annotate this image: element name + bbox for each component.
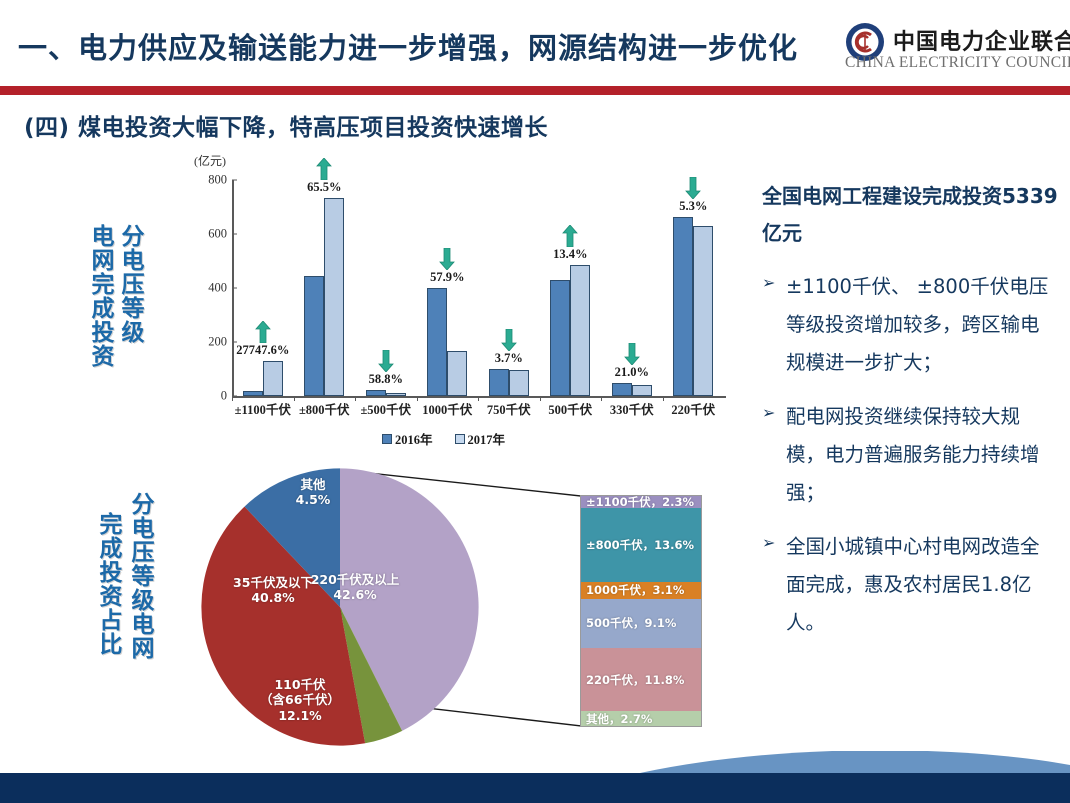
y-axis-unit-label: (亿元) xyxy=(194,152,226,169)
side-label-bottom-right: 分电压等级电网 xyxy=(128,492,151,660)
stack-segment-label: 220千伏，11.8% xyxy=(581,672,684,688)
logo-text-cn: 中国电力企业联合会 xyxy=(893,24,1070,56)
bar-2016 xyxy=(366,390,386,396)
summary-bullet-text: ±1100千伏、 ±800千伏电压等级投资增加较多，跨区输电规模进一步扩大； xyxy=(786,268,1058,382)
pie-label-percent: 42.6% xyxy=(311,587,400,602)
bar-2017 xyxy=(570,265,590,396)
pie-label-line: 其他 xyxy=(296,477,331,492)
legend-item: 2017年 xyxy=(455,429,506,448)
growth-percent-label: 13.4% xyxy=(553,247,587,262)
growth-percent-label: 58.8% xyxy=(369,372,403,387)
bar-group xyxy=(232,180,294,396)
growth-percent-label: 21.0% xyxy=(615,365,649,380)
x-axis-tick-label: 500千伏 xyxy=(548,399,592,418)
summary-bullet: ➢配电网投资继续保持较大规模，电力普遍服务能力持续增强； xyxy=(762,398,1058,512)
arrow-down-icon xyxy=(378,350,394,372)
arrow-down-icon xyxy=(501,329,517,351)
summary-bullet-list: ➢±1100千伏、 ±800千伏电压等级投资增加较多，跨区输电规模进一步扩大；➢… xyxy=(762,268,1058,642)
bullet-arrow-icon: ➢ xyxy=(762,268,786,382)
growth-percent-label: 5.3% xyxy=(679,199,707,214)
pie-slice-label: 220千伏及以上42.6% xyxy=(311,572,400,603)
bar-2016 xyxy=(243,391,263,396)
summary-bullet: ➢±1100千伏、 ±800千伏电压等级投资增加较多，跨区输电规模进一步扩大； xyxy=(762,268,1058,382)
x-axis-tick-label: ±800千伏 xyxy=(299,399,350,418)
growth-percent-label: 3.7% xyxy=(495,351,523,366)
growth-percent-label: 57.9% xyxy=(430,270,464,285)
arrow-down-icon xyxy=(439,248,455,270)
page-title: 一、电力供应及输送能力进一步增强，网源结构进一步优化 xyxy=(18,25,818,67)
logo-text-en: CHINA ELECTRICITY COUNCIL xyxy=(845,54,1070,72)
bar-2016 xyxy=(489,369,509,396)
legend-label: 2017年 xyxy=(468,429,506,448)
arrow-up-icon xyxy=(255,321,271,343)
bar-2016 xyxy=(304,276,324,396)
y-axis-tick-mark xyxy=(232,180,237,181)
x-axis-tick-label: 1000千伏 xyxy=(422,399,472,418)
pie-label-line: 220千伏及以上 xyxy=(311,572,400,587)
x-axis-tick-mark xyxy=(601,396,602,401)
side-label-top-right: 分电压等级 xyxy=(118,224,141,344)
stack-segment-label: 500千伏，9.1% xyxy=(581,615,676,631)
organization-logo: 中国电力企业联合会 CHINA ELECTRICITY COUNCIL xyxy=(845,18,1060,78)
bar-2016 xyxy=(550,280,570,396)
arrow-down-icon xyxy=(624,343,640,365)
side-label-top-left: 电网完成投资 xyxy=(88,224,111,368)
y-axis-tick-label: 800 xyxy=(208,173,227,188)
bar-2017 xyxy=(632,385,652,396)
summary-bullet-text: 配电网投资继续保持较大规模，电力普遍服务能力持续增强； xyxy=(786,398,1058,512)
bullet-arrow-icon: ➢ xyxy=(762,528,786,642)
arrow-down-icon xyxy=(685,177,701,199)
x-axis-tick-mark xyxy=(355,396,356,401)
pie-label-line: 35千伏及以下 xyxy=(233,575,313,590)
x-axis-tick-mark xyxy=(478,396,479,401)
bar-group xyxy=(294,180,356,396)
x-axis-tick-mark xyxy=(663,396,664,401)
bar-2017 xyxy=(693,226,713,396)
bullet-arrow-icon: ➢ xyxy=(762,398,786,512)
pie-slice-label: 35千伏及以下40.8% xyxy=(233,575,313,606)
stack-segment: 220千伏，11.8% xyxy=(581,648,701,712)
header-red-rule xyxy=(0,86,1070,95)
x-axis-tick-label: 750千伏 xyxy=(487,399,531,418)
summary-panel: 全国电网工程建设完成投资5339亿元 ➢±1100千伏、 ±800千伏电压等级投… xyxy=(762,178,1058,642)
x-axis-tick-mark xyxy=(232,396,233,401)
stack-segment-label: ±800千伏，13.6% xyxy=(581,537,694,553)
x-axis-tick-mark xyxy=(540,396,541,401)
bar-2017 xyxy=(386,393,406,396)
bar-2016 xyxy=(612,383,632,397)
stack-segment: 其他，2.7% xyxy=(581,711,701,726)
pie-slice-label: 110千伏（含66千伏）12.1% xyxy=(260,677,340,723)
investment-bar-chart: (亿元) 2016年2017年 0200400600800±1100千伏2774… xyxy=(186,152,736,452)
pie-slice-label: 其他4.5% xyxy=(296,477,331,508)
y-axis-tick-label: 200 xyxy=(208,335,227,350)
bar-2017 xyxy=(324,198,344,396)
section-subtitle: (四) 煤电投资大幅下降，特高压项目投资快速增长 xyxy=(24,108,548,142)
stack-segment: ±1100千伏，2.3% xyxy=(581,496,701,508)
footer-wave xyxy=(0,751,1070,773)
bar-plot-area xyxy=(232,180,724,396)
bar-2016 xyxy=(673,217,693,396)
bar-group xyxy=(417,180,479,396)
x-axis-tick-label: ±500千伏 xyxy=(360,399,411,418)
arrow-up-icon xyxy=(316,158,332,180)
stack-segment: 1000千伏，3.1% xyxy=(581,582,701,599)
y-axis-tick-label: 0 xyxy=(221,389,227,404)
summary-headline: 全国电网工程建设完成投资5339亿元 xyxy=(762,178,1058,252)
stack-segment-label: 其他，2.7% xyxy=(581,711,652,727)
summary-bullet-text: 全国小城镇中心村电网改造全面完成，惠及农村居民1.8亿人。 xyxy=(786,528,1058,642)
bar-group xyxy=(540,180,602,396)
stack-segment-label: 1000千伏，3.1% xyxy=(581,582,684,598)
share-pie-chart: 220千伏及以上42.6%其他4.5%35千伏及以下40.8%110千伏（含66… xyxy=(195,462,715,752)
x-axis-tick-label: 220千伏 xyxy=(671,399,715,418)
x-axis-line xyxy=(232,396,726,398)
growth-percent-label: 65.5% xyxy=(307,180,341,195)
y-axis-tick-label: 600 xyxy=(208,227,227,242)
bar-chart-legend: 2016年2017年 xyxy=(382,429,505,448)
summary-bullet: ➢全国小城镇中心村电网改造全面完成，惠及农村居民1.8亿人。 xyxy=(762,528,1058,642)
bar-2016 xyxy=(427,288,447,396)
pie-label-percent: 40.8% xyxy=(233,590,313,605)
legend-swatch xyxy=(382,434,392,444)
x-axis-tick-mark xyxy=(417,396,418,401)
growth-percent-label: 27747.6% xyxy=(236,343,289,358)
pie-label-line: （含66千伏） xyxy=(260,692,340,707)
y-axis-tick-mark xyxy=(232,288,237,289)
legend-swatch xyxy=(455,434,465,444)
x-axis-tick-label: 330千伏 xyxy=(610,399,654,418)
arrow-up-icon xyxy=(562,225,578,247)
pie-label-line: 110千伏 xyxy=(260,677,340,692)
pie-label-percent: 4.5% xyxy=(296,492,331,507)
stack-segment: 500千伏，9.1% xyxy=(581,599,701,648)
page-header: 一、电力供应及输送能力进一步增强，网源结构进一步优化 中国电力企业联合会 CHI… xyxy=(0,0,1070,86)
y-axis-tick-mark xyxy=(232,342,237,343)
detail-stacked-bar: ±1100千伏，2.3%±800千伏，13.6%1000千伏，3.1%500千伏… xyxy=(580,495,702,727)
stack-segment: ±800千伏，13.6% xyxy=(581,508,701,581)
y-axis-tick-mark xyxy=(232,234,237,235)
legend-label: 2016年 xyxy=(395,429,433,448)
side-label-bottom-left: 完成投资占比 xyxy=(96,512,119,656)
bar-2017 xyxy=(263,361,283,396)
x-axis-tick-mark xyxy=(294,396,295,401)
footer-bar xyxy=(0,773,1070,803)
bar-2017 xyxy=(447,351,467,396)
y-axis-tick-label: 400 xyxy=(208,281,227,296)
pie-label-percent: 12.1% xyxy=(260,708,340,723)
bar-2017 xyxy=(509,370,529,396)
legend-item: 2016年 xyxy=(382,429,433,448)
x-axis-tick-label: ±1100千伏 xyxy=(235,399,291,418)
